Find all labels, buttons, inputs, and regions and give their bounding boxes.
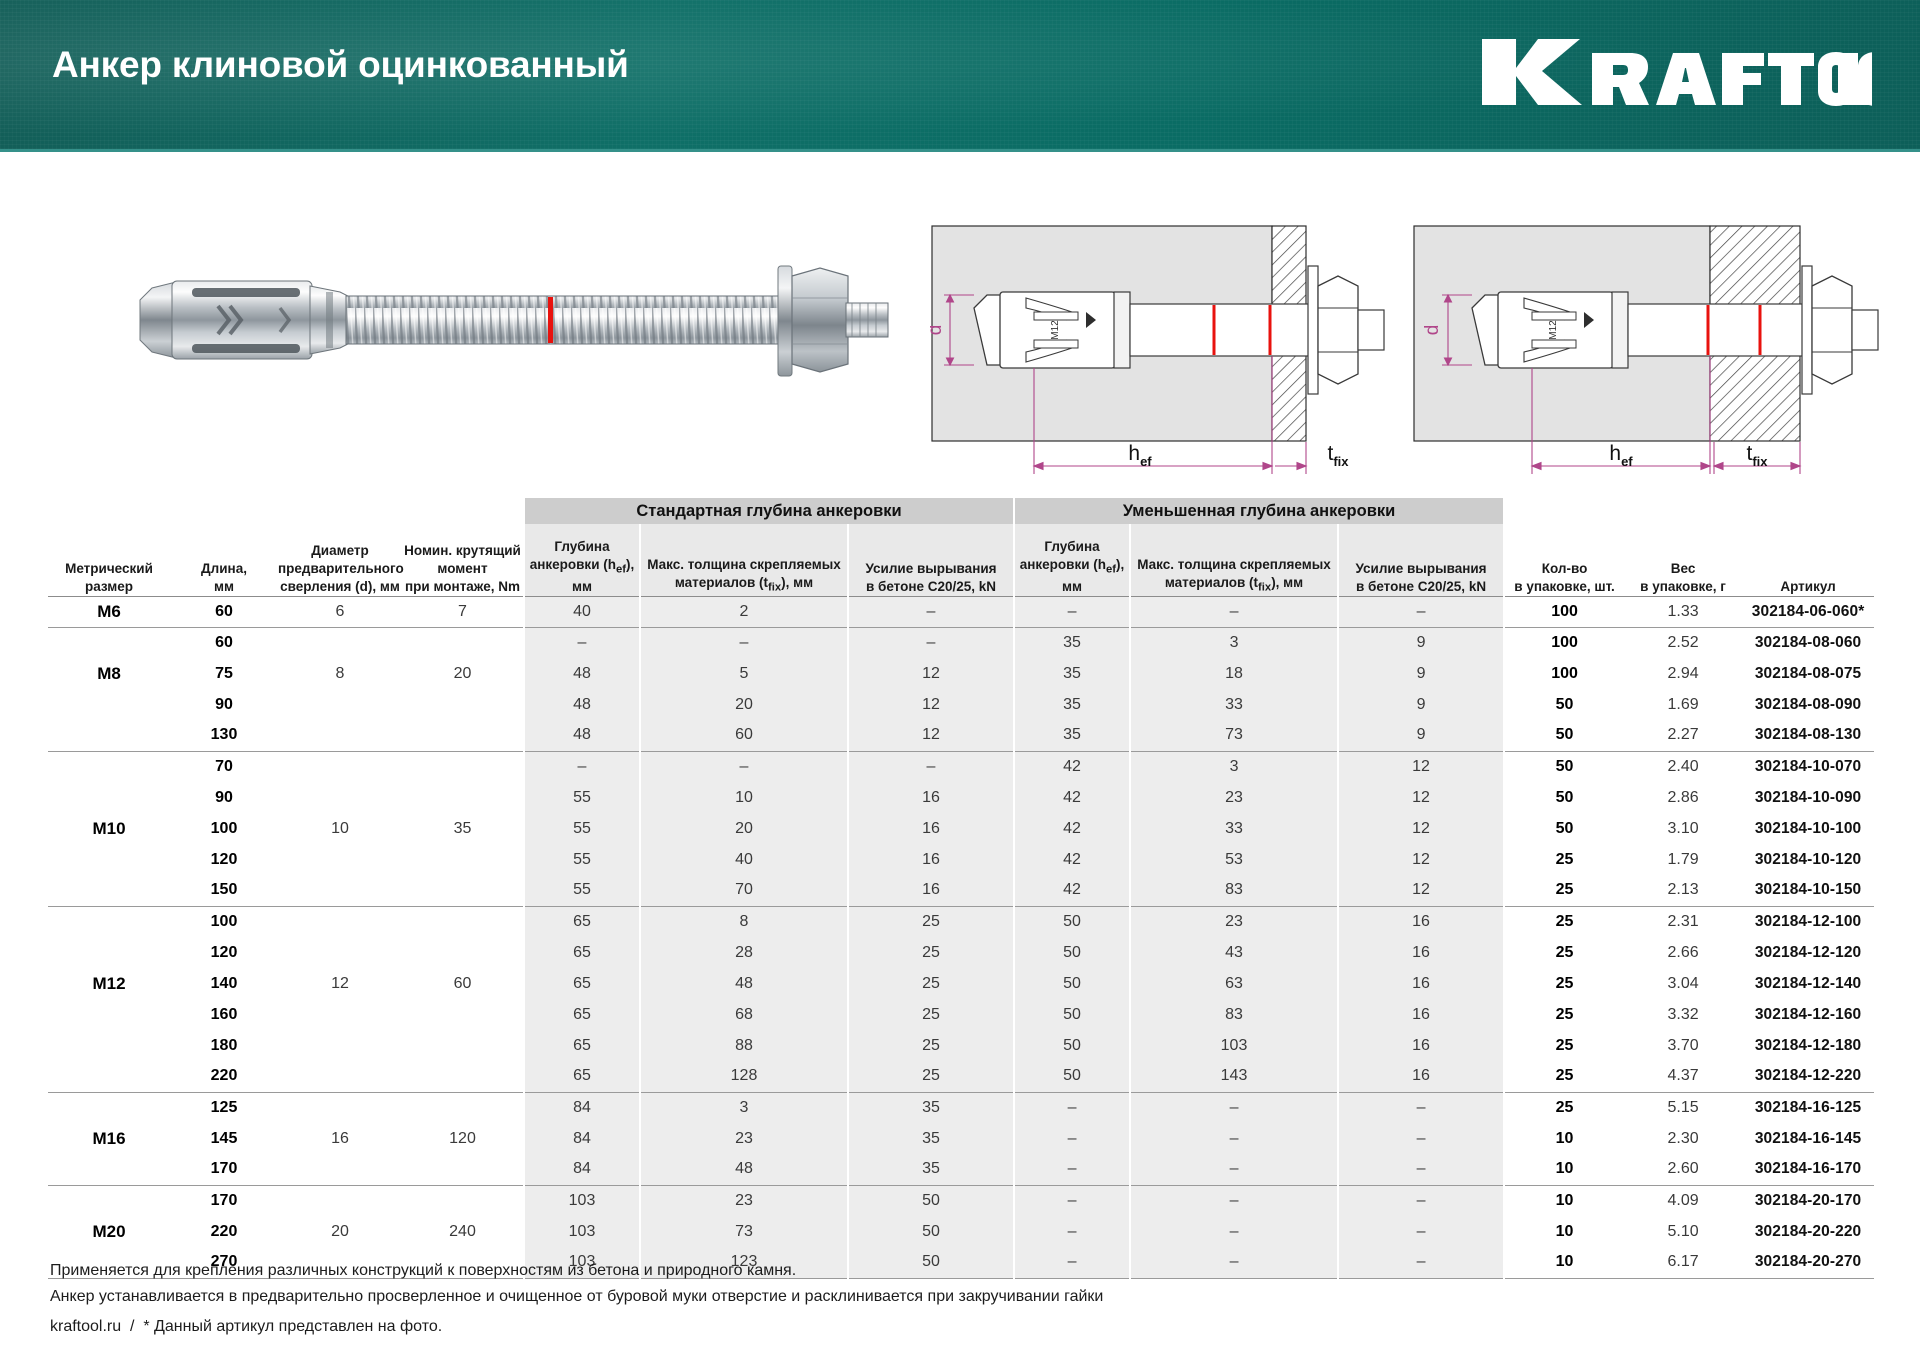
- cell-std-depth: 48: [524, 689, 640, 720]
- cell-length: 160: [170, 999, 278, 1030]
- cell-red-thickness: –: [1130, 1092, 1338, 1123]
- cell-std-thickness: 48: [640, 1154, 848, 1185]
- col-weight-l2: в упаковке, г: [1640, 579, 1726, 594]
- cell-drill-diameter: 16: [278, 1123, 402, 1154]
- cell-red-depth: 50: [1014, 1030, 1130, 1061]
- cell-red-depth: 35: [1014, 720, 1130, 751]
- cell-metric-size-empty: [48, 782, 170, 813]
- cell-article: 302184-10-100: [1742, 813, 1874, 844]
- cell-std-pullout: 50: [848, 1185, 1014, 1216]
- cell-drill-diameter: 20: [278, 1216, 402, 1247]
- table-column-header-row: Метрический размер Длина, мм Диаметр пре…: [48, 524, 1874, 596]
- cell-weight: 2.86: [1624, 782, 1742, 813]
- cell-red-depth: –: [1014, 1154, 1130, 1185]
- cell-red-thickness: –: [1130, 1216, 1338, 1247]
- cell-weight: 2.40: [1624, 751, 1742, 782]
- cell-torque: 60: [402, 968, 524, 999]
- cell-std-depth: 103: [524, 1185, 640, 1216]
- cell-std-depth: 48: [524, 658, 640, 689]
- cell-red-thickness: 83: [1130, 999, 1338, 1030]
- cell-article: 302184-10-150: [1742, 875, 1874, 906]
- group-blank-left: [48, 498, 524, 524]
- cell-std-depth: 84: [524, 1092, 640, 1123]
- table-row: 1806588255010316253.70302184-12-180: [48, 1030, 1874, 1061]
- cell-std-pullout: 12: [848, 658, 1014, 689]
- cell-std-depth: 84: [524, 1123, 640, 1154]
- cell-weight: 6.17: [1624, 1247, 1742, 1278]
- cell-std-depth: 55: [524, 813, 640, 844]
- cell-red-thickness: –: [1130, 1123, 1338, 1154]
- page-footer: Применяется для крепления различных конс…: [50, 1258, 1550, 1340]
- cell-quantity: 25: [1504, 937, 1624, 968]
- cell-length: 90: [170, 782, 278, 813]
- cell-drill-diameter: 8: [278, 658, 402, 689]
- cell-drill-diameter-empty: [278, 844, 402, 875]
- cell-std-thickness: –: [640, 751, 848, 782]
- cell-metric-size: M6: [48, 596, 170, 627]
- spec-table: Стандартная глубина анкеровки Уменьшенна…: [48, 498, 1874, 1279]
- col-torque-l2: момент: [437, 561, 487, 576]
- cell-torque-empty: [402, 1154, 524, 1185]
- cell-red-pullout: –: [1338, 1092, 1504, 1123]
- table-row: M121401260654825506316253.04302184-12-14…: [48, 968, 1874, 999]
- cell-weight: 2.30: [1624, 1123, 1742, 1154]
- cell-article: 302184-08-075: [1742, 658, 1874, 689]
- cell-drill-diameter-empty: [278, 906, 402, 937]
- cell-length: 120: [170, 844, 278, 875]
- col-qty-l2: в упаковке, шт.: [1514, 579, 1615, 594]
- cell-torque: 7: [402, 596, 524, 627]
- cell-std-thickness: 3: [640, 1092, 848, 1123]
- col-red-depth-l2a: анкеровки (h: [1020, 557, 1106, 572]
- cell-red-pullout: 16: [1338, 1061, 1504, 1092]
- cell-std-pullout: 35: [848, 1154, 1014, 1185]
- cell-metric-size: M8: [48, 658, 170, 689]
- table-row: 13048601235739502.27302184-08-130: [48, 720, 1874, 751]
- footer-line-2: Анкер устанавливается в предварительно п…: [50, 1284, 1550, 1310]
- cell-weight: 2.31: [1624, 906, 1742, 937]
- table-row: M1614516120842335–––102.30302184-16-145: [48, 1123, 1874, 1154]
- cell-torque-empty: [402, 1185, 524, 1216]
- cell-quantity: 10: [1504, 1216, 1624, 1247]
- cell-weight: 4.09: [1624, 1185, 1742, 1216]
- table-row: 60–––35391002.52302184-08-060: [48, 627, 1874, 658]
- cell-red-depth: 50: [1014, 906, 1130, 937]
- col-std-pull-l2: в бетоне C20/25, kN: [866, 579, 996, 594]
- diagram-label-hef: h: [1609, 442, 1621, 465]
- cell-quantity: 10: [1504, 1123, 1624, 1154]
- page-header: Анкер клиновой оцинкованный: [0, 0, 1920, 152]
- cell-std-thickness: –: [640, 627, 848, 658]
- cell-torque-empty: [402, 720, 524, 751]
- col-length-l2: мм: [214, 579, 234, 594]
- cell-std-pullout: 16: [848, 782, 1014, 813]
- cell-std-pullout: 16: [848, 813, 1014, 844]
- cell-quantity: 25: [1504, 1030, 1624, 1061]
- cell-std-thickness: 73: [640, 1216, 848, 1247]
- table-row: 10065825502316252.31302184-12-100: [48, 906, 1874, 937]
- cell-quantity: 25: [1504, 844, 1624, 875]
- cell-std-depth: 65: [524, 937, 640, 968]
- cell-length: 60: [170, 596, 278, 627]
- cell-std-depth: 40: [524, 596, 640, 627]
- cell-weight: 5.15: [1624, 1092, 1742, 1123]
- datasheet-page: Анкер клиновой оцинкованный: [0, 0, 1920, 1357]
- cell-weight: 2.52: [1624, 627, 1742, 658]
- cell-red-pullout: 12: [1338, 782, 1504, 813]
- cell-std-pullout: 25: [848, 968, 1014, 999]
- cell-std-thickness: 20: [640, 689, 848, 720]
- table-row: M20220202401037350–––105.10302184-20-220: [48, 1216, 1874, 1247]
- col-std-depth: Глубина анкеровки (hef), мм: [524, 524, 640, 596]
- cell-std-depth: –: [524, 751, 640, 782]
- cell-red-depth: –: [1014, 1092, 1130, 1123]
- col-red-pull-l1: Усилие вырывания: [1356, 561, 1487, 576]
- cell-red-thickness: –: [1130, 596, 1338, 627]
- cell-length: 60: [170, 627, 278, 658]
- cell-red-pullout: 9: [1338, 658, 1504, 689]
- col-red-thick-l2a: материалов (t: [1165, 575, 1258, 590]
- cell-quantity: 100: [1504, 658, 1624, 689]
- cell-quantity: 10: [1504, 1154, 1624, 1185]
- cell-std-depth: 103: [524, 1216, 640, 1247]
- cell-red-thickness: 143: [1130, 1061, 1338, 1092]
- cell-red-thickness: 23: [1130, 782, 1338, 813]
- cell-metric-size: M12: [48, 968, 170, 999]
- cell-std-depth: 48: [524, 720, 640, 751]
- cell-length: 180: [170, 1030, 278, 1061]
- cell-std-thickness: 40: [640, 844, 848, 875]
- cell-std-thickness: 128: [640, 1061, 848, 1092]
- cell-std-depth: 55: [524, 782, 640, 813]
- cell-weight: 1.69: [1624, 689, 1742, 720]
- cell-quantity: 100: [1504, 596, 1624, 627]
- cell-metric-size-empty: [48, 1061, 170, 1092]
- cell-std-thickness: 68: [640, 999, 848, 1030]
- col-drill-l3: сверления (d), мм: [280, 579, 400, 594]
- diagram-thread-mark: M12: [1548, 320, 1559, 340]
- cell-drill-diameter-empty: [278, 937, 402, 968]
- cell-metric-size: M20: [48, 1216, 170, 1247]
- table-row: 120652825504316252.66302184-12-120: [48, 937, 1874, 968]
- col-red-depth: Глубина анкеровки (hef), мм: [1014, 524, 1130, 596]
- cell-weight: 2.66: [1624, 937, 1742, 968]
- cell-std-pullout: –: [848, 751, 1014, 782]
- cell-metric-size-empty: [48, 844, 170, 875]
- cell-red-pullout: 12: [1338, 875, 1504, 906]
- cell-weight: 3.32: [1624, 999, 1742, 1030]
- cell-drill-diameter-empty: [278, 720, 402, 751]
- table-row: 70–––42312502.40302184-10-070: [48, 751, 1874, 782]
- table-row: M87582048512351891002.94302184-08-075: [48, 658, 1874, 689]
- group-reduced-depth: Уменьшенная глубина анкеровки: [1014, 498, 1504, 524]
- cell-red-depth: 50: [1014, 937, 1130, 968]
- cell-length: 90: [170, 689, 278, 720]
- cell-length: 100: [170, 906, 278, 937]
- footer-note: * Данный артикул представлен на фото.: [143, 1318, 442, 1335]
- cell-quantity: 50: [1504, 782, 1624, 813]
- table-row: M101001035552016423312503.10302184-10-10…: [48, 813, 1874, 844]
- cell-quantity: 50: [1504, 813, 1624, 844]
- cell-drill-diameter-empty: [278, 875, 402, 906]
- svg-text:tfix: tfix: [1327, 442, 1349, 469]
- cell-red-depth: 50: [1014, 968, 1130, 999]
- cell-red-depth: 42: [1014, 782, 1130, 813]
- cell-std-depth: 55: [524, 875, 640, 906]
- col-std-thick-sub: fix: [768, 582, 781, 594]
- cell-drill-diameter-empty: [278, 1154, 402, 1185]
- cell-red-pullout: 16: [1338, 906, 1504, 937]
- cell-std-depth: 65: [524, 968, 640, 999]
- cell-std-thickness: 20: [640, 813, 848, 844]
- svg-text:hef: hef: [1609, 442, 1633, 469]
- cell-red-pullout: 12: [1338, 844, 1504, 875]
- diagram-standard-depth: M12 M12 x 110 d: [930, 212, 1410, 497]
- cell-red-thickness: 3: [1130, 627, 1338, 658]
- table-row: 9048201235339501.69302184-08-090: [48, 689, 1874, 720]
- cell-article: 302184-08-060: [1742, 627, 1874, 658]
- cell-std-pullout: 35: [848, 1092, 1014, 1123]
- cell-length: 75: [170, 658, 278, 689]
- col-torque-l3: при монтаже, Nm: [405, 579, 520, 594]
- col-std-depth-sub: ef: [616, 564, 626, 576]
- col-red-thick-l1: Макс. толщина скрепляемых: [1137, 557, 1331, 572]
- cell-article: 302184-20-170: [1742, 1185, 1874, 1216]
- cell-red-thickness: 53: [1130, 844, 1338, 875]
- cell-torque: 120: [402, 1123, 524, 1154]
- cell-metric-size-empty: [48, 1092, 170, 1123]
- cell-torque-empty: [402, 1061, 524, 1092]
- cell-red-depth: 42: [1014, 844, 1130, 875]
- cell-torque-empty: [402, 999, 524, 1030]
- col-std-depth-l1: Глубина: [554, 539, 609, 554]
- diagram-label-d: d: [930, 325, 946, 336]
- cell-red-pullout: 16: [1338, 937, 1504, 968]
- cell-torque: 240: [402, 1216, 524, 1247]
- col-red-pull-l2: в бетоне C20/25, kN: [1356, 579, 1486, 594]
- cell-weight: 3.10: [1624, 813, 1742, 844]
- cell-article: 302184-16-125: [1742, 1092, 1874, 1123]
- cell-torque-empty: [402, 782, 524, 813]
- col-std-thick-l1: Макс. толщина скрепляемых: [647, 557, 841, 572]
- table-row: M66067402––––1001.33302184-06-060*: [48, 596, 1874, 627]
- cell-metric-size-empty: [48, 627, 170, 658]
- kraftool-logo: [1480, 36, 1872, 108]
- cell-length: 220: [170, 1216, 278, 1247]
- cell-std-pullout: 25: [848, 1061, 1014, 1092]
- cell-length: 70: [170, 751, 278, 782]
- col-metric-size-l2: размер: [85, 579, 133, 594]
- cell-red-pullout: –: [1338, 1185, 1504, 1216]
- cell-red-pullout: –: [1338, 1123, 1504, 1154]
- cell-drill-diameter-empty: [278, 1185, 402, 1216]
- cell-std-thickness: 28: [640, 937, 848, 968]
- cell-length: 120: [170, 937, 278, 968]
- cell-metric-size: M10: [48, 813, 170, 844]
- col-std-pullout: Усилие вырывания в бетоне C20/25, kN: [848, 524, 1014, 596]
- col-std-thick-l2a: материалов (t: [675, 575, 768, 590]
- cell-torque: 20: [402, 658, 524, 689]
- cell-red-depth: 35: [1014, 689, 1130, 720]
- cell-length: 170: [170, 1154, 278, 1185]
- table-row: 160656825508316253.32302184-12-160: [48, 999, 1874, 1030]
- cell-article: 302184-12-120: [1742, 937, 1874, 968]
- cell-metric-size-empty: [48, 999, 170, 1030]
- cell-std-thickness: 8: [640, 906, 848, 937]
- cell-article: 302184-08-090: [1742, 689, 1874, 720]
- cell-quantity: 100: [1504, 627, 1624, 658]
- col-drill-l2: предварительного: [278, 561, 404, 576]
- cell-article: 302184-12-160: [1742, 999, 1874, 1030]
- cell-article: 302184-20-220: [1742, 1216, 1874, 1247]
- website-link[interactable]: kraftool.ru: [50, 1318, 121, 1335]
- cell-weight: 1.79: [1624, 844, 1742, 875]
- cell-article: 302184-16-145: [1742, 1123, 1874, 1154]
- col-metric-size-l1: Метрический: [65, 561, 153, 576]
- cell-quantity: 50: [1504, 689, 1624, 720]
- spec-table-wrapper: Стандартная глубина анкеровки Уменьшенна…: [48, 498, 1874, 1279]
- cell-drill-diameter: 12: [278, 968, 402, 999]
- cell-red-pullout: 16: [1338, 1030, 1504, 1061]
- cell-weight: 1.33: [1624, 596, 1742, 627]
- cell-weight: 2.27: [1624, 720, 1742, 751]
- cell-std-thickness: 23: [640, 1123, 848, 1154]
- table-row: 150557016428312252.13302184-10-150: [48, 875, 1874, 906]
- cell-drill-diameter: 6: [278, 596, 402, 627]
- cell-std-depth: 65: [524, 1030, 640, 1061]
- cell-torque-empty: [402, 1030, 524, 1061]
- cell-red-depth: 35: [1014, 658, 1130, 689]
- cell-red-depth: –: [1014, 1216, 1130, 1247]
- cell-std-pullout: 35: [848, 1123, 1014, 1154]
- svg-text:tfix: tfix: [1746, 442, 1768, 469]
- cell-torque-empty: [402, 875, 524, 906]
- cell-red-depth: –: [1014, 1123, 1130, 1154]
- group-standard-depth: Стандартная глубина анкеровки: [524, 498, 1014, 524]
- cell-length: 150: [170, 875, 278, 906]
- footer-line-3: kraftool.ru / * Данный артикул представл…: [50, 1314, 1550, 1340]
- table-row: 12584335–––255.15302184-16-125: [48, 1092, 1874, 1123]
- diagram-label-hef-sub: ef: [1140, 454, 1152, 469]
- cell-weight: 3.70: [1624, 1030, 1742, 1061]
- col-length: Длина, мм: [170, 524, 278, 596]
- cell-std-depth: 65: [524, 906, 640, 937]
- cell-red-thickness: 103: [1130, 1030, 1338, 1061]
- cell-length: 130: [170, 720, 278, 751]
- cell-red-depth: –: [1014, 1185, 1130, 1216]
- cell-red-thickness: –: [1130, 1154, 1338, 1185]
- cell-torque-empty: [402, 937, 524, 968]
- cell-article: 302184-12-100: [1742, 906, 1874, 937]
- cell-metric-size: M16: [48, 1123, 170, 1154]
- table-group-header-row: Стандартная глубина анкеровки Уменьшенна…: [48, 498, 1874, 524]
- cell-drill-diameter: 10: [278, 813, 402, 844]
- cell-drill-diameter-empty: [278, 751, 402, 782]
- cell-std-pullout: 25: [848, 937, 1014, 968]
- cell-red-thickness: 18: [1130, 658, 1338, 689]
- cell-weight: 5.10: [1624, 1216, 1742, 1247]
- diagram-label-hef: h: [1128, 442, 1140, 465]
- cell-red-pullout: 12: [1338, 813, 1504, 844]
- cell-std-thickness: 70: [640, 875, 848, 906]
- cell-length: 100: [170, 813, 278, 844]
- cell-torque-empty: [402, 906, 524, 937]
- cell-red-thickness: 23: [1130, 906, 1338, 937]
- cell-red-thickness: 33: [1130, 813, 1338, 844]
- col-drill-l1: Диаметр: [311, 543, 369, 558]
- cell-metric-size-empty: [48, 1185, 170, 1216]
- cell-weight: 2.94: [1624, 658, 1742, 689]
- col-red-pullout: Усилие вырывания в бетоне C20/25, kN: [1338, 524, 1504, 596]
- col-std-pull-l1: Усилие вырывания: [865, 561, 996, 576]
- cell-red-pullout: 9: [1338, 627, 1504, 658]
- diagram-label-tfix-sub: fix: [1333, 454, 1349, 469]
- cell-std-thickness: 48: [640, 968, 848, 999]
- cell-drill-diameter-empty: [278, 689, 402, 720]
- cell-std-pullout: 25: [848, 1030, 1014, 1061]
- cell-article: 302184-12-220: [1742, 1061, 1874, 1092]
- footer-separator: /: [130, 1318, 134, 1335]
- cell-length: 125: [170, 1092, 278, 1123]
- col-red-depth-sub: ef: [1106, 564, 1116, 576]
- table-row: 90551016422312502.86302184-10-090: [48, 782, 1874, 813]
- table-row: 22065128255014316254.37302184-12-220: [48, 1061, 1874, 1092]
- cell-std-pullout: 16: [848, 844, 1014, 875]
- col-red-thick-sub: fix: [1258, 582, 1271, 594]
- cell-std-pullout: –: [848, 627, 1014, 658]
- svg-text:hef: hef: [1128, 442, 1152, 469]
- cell-torque-empty: [402, 844, 524, 875]
- cell-red-depth: –: [1014, 596, 1130, 627]
- cell-weight: 2.60: [1624, 1154, 1742, 1185]
- cell-red-depth: 42: [1014, 875, 1130, 906]
- col-weight-l1: Вес: [1671, 561, 1696, 576]
- cell-std-depth: 55: [524, 844, 640, 875]
- cell-std-thickness: 10: [640, 782, 848, 813]
- cell-red-pullout: 9: [1338, 689, 1504, 720]
- col-std-thickness: Макс. толщина скрепляемых материалов (tf…: [640, 524, 848, 596]
- cell-metric-size-empty: [48, 937, 170, 968]
- page-title: Анкер клиновой оцинкованный: [52, 44, 629, 86]
- cell-std-depth: 65: [524, 999, 640, 1030]
- table-row: 170844835–––102.60302184-16-170: [48, 1154, 1874, 1185]
- cell-std-depth: 65: [524, 1061, 640, 1092]
- col-std-thick-l2b: ), мм: [781, 575, 813, 590]
- cell-red-pullout: 12: [1338, 751, 1504, 782]
- cell-metric-size-empty: [48, 1154, 170, 1185]
- cell-quantity: 25: [1504, 968, 1624, 999]
- cell-red-pullout: –: [1338, 596, 1504, 627]
- cell-std-thickness: 2: [640, 596, 848, 627]
- cell-red-thickness: 43: [1130, 937, 1338, 968]
- cell-std-pullout: 50: [848, 1216, 1014, 1247]
- cell-metric-size-empty: [48, 720, 170, 751]
- col-red-thick-l2b: ), мм: [1271, 575, 1303, 590]
- diagram-label-tfix-sub: fix: [1752, 454, 1768, 469]
- cell-quantity: 25: [1504, 1061, 1624, 1092]
- cell-article: 302184-12-140: [1742, 968, 1874, 999]
- col-red-thickness: Макс. толщина скрепляемых материалов (tf…: [1130, 524, 1338, 596]
- cell-metric-size-empty: [48, 1030, 170, 1061]
- cell-red-depth: 35: [1014, 627, 1130, 658]
- cell-std-pullout: –: [848, 596, 1014, 627]
- cell-weight: 2.13: [1624, 875, 1742, 906]
- cell-red-depth: 42: [1014, 751, 1130, 782]
- cell-red-thickness: 83: [1130, 875, 1338, 906]
- cell-drill-diameter-empty: [278, 1061, 402, 1092]
- footer-line-1: Применяется для крепления различных конс…: [50, 1258, 1550, 1284]
- col-metric-size: Метрический размер: [48, 524, 170, 596]
